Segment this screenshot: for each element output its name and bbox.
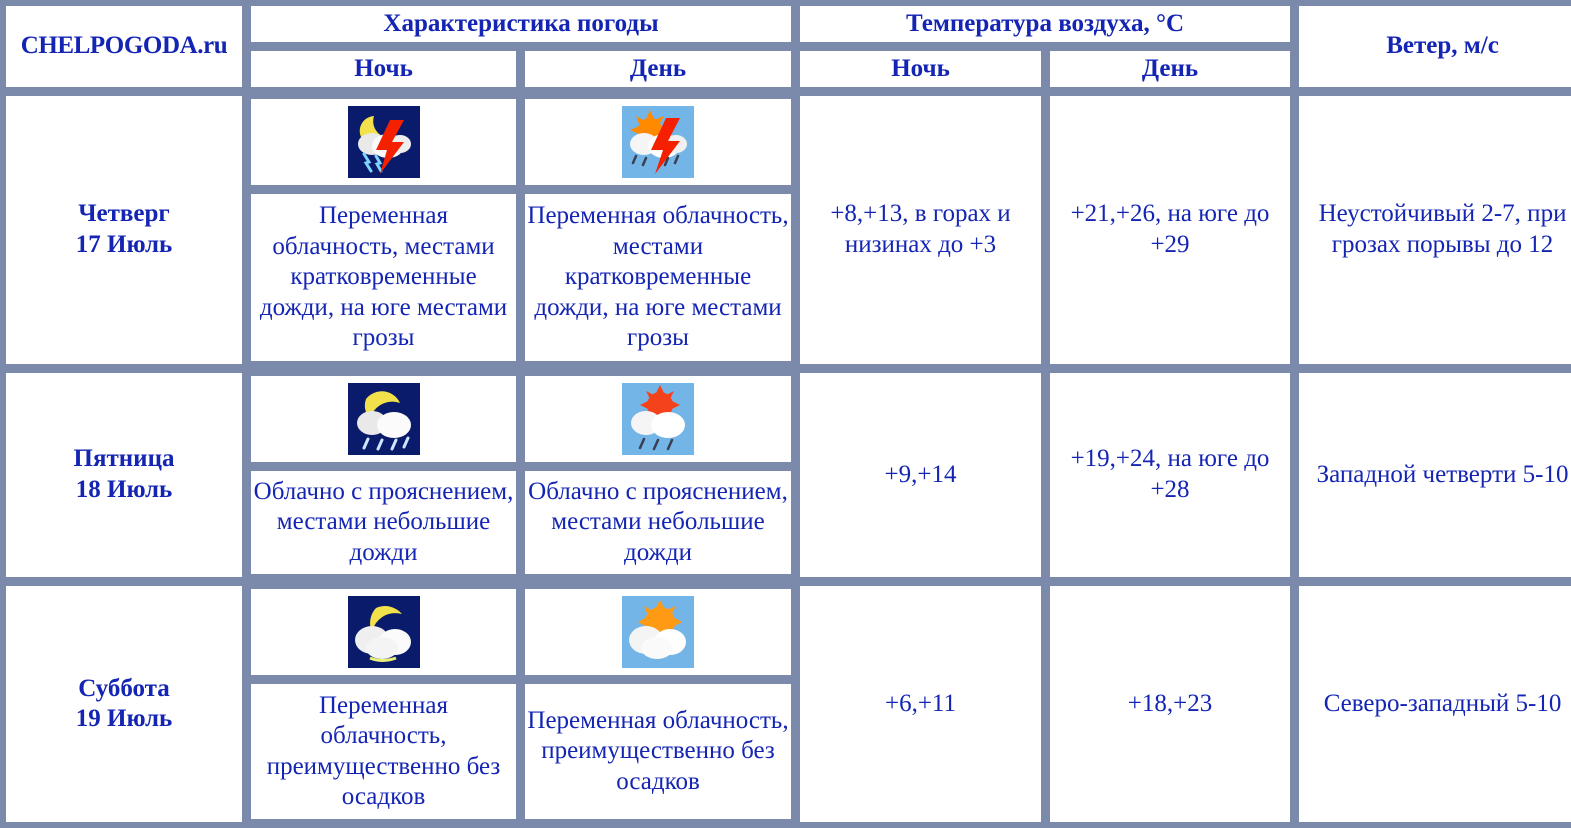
night-partly-cloudy-icon (251, 589, 516, 675)
night-characteristic-cell: Переменная облачность, преимущественно б… (248, 583, 519, 825)
day-label-cell: Суббота 19 Июль (3, 583, 245, 825)
day-date: 17 Июль (10, 230, 238, 261)
day-date: 19 Июль (10, 704, 238, 735)
day-icon-cell (522, 96, 794, 188)
night-icon-cell (248, 586, 519, 678)
night-temperature: +9,+14 (797, 370, 1044, 580)
table-row: Четверг 17 Июль (3, 93, 1571, 367)
wind-value: Неустойчивый 2-7, при грозах порывы до 1… (1296, 93, 1571, 367)
day-stack: Переменная облачность, преимущественно б… (522, 583, 794, 825)
day-description: Переменная облачность, местами кратковре… (522, 191, 794, 364)
night-stack: Переменная облачность, преимущественно б… (248, 583, 519, 825)
weather-forecast-table: CHELPOGODA.ru Характеристика погоды Темп… (0, 0, 1571, 828)
day-thunderstorm-icon (525, 99, 791, 185)
day-weekday: Четверг (10, 199, 238, 230)
header-characteristic-day: День (522, 48, 794, 90)
day-characteristic-cell: Облачно с прояснением, местами небольшие… (522, 370, 794, 580)
night-icon-cell (248, 373, 519, 465)
night-rain-icon (251, 376, 516, 462)
header-temperature-night: Ночь (797, 48, 1044, 90)
wind-value: Западной четверти 5-10 (1296, 370, 1571, 580)
night-description: Облачно с прояснением, местами небольшие… (248, 468, 519, 577)
header-air-temperature: Температура воздуха, °C (797, 3, 1293, 45)
night-characteristic-cell: Переменная облачность, местами кратковре… (248, 93, 519, 367)
day-icon-cell (522, 373, 794, 465)
day-description: Переменная облачность, преимущественно б… (522, 681, 794, 822)
night-description: Переменная облачность, местами кратковре… (248, 191, 519, 364)
night-icon-cell (248, 96, 519, 188)
table-row: Суббота 19 Июль (3, 583, 1571, 825)
day-partly-cloudy-icon (525, 589, 791, 675)
day-temperature: +19,+24, на юге до +28 (1047, 370, 1293, 580)
header-characteristic-night: Ночь (248, 48, 519, 90)
day-characteristic-cell: Переменная облачность, преимущественно б… (522, 583, 794, 825)
day-icon-cell (522, 586, 794, 678)
night-temperature: +8,+13, в горах и низинах до +3 (797, 93, 1044, 367)
day-stack: Облачно с прояснением, местами небольшие… (522, 370, 794, 580)
header-wind: Ветер, м/с (1296, 3, 1571, 90)
table-header-row-primary: CHELPOGODA.ru Характеристика погоды Темп… (3, 3, 1571, 45)
day-description: Облачно с прояснением, местами небольшие… (522, 468, 794, 577)
table-row: Пятница 18 Июль (3, 370, 1571, 580)
day-label-cell: Пятница 18 Июль (3, 370, 245, 580)
day-temperature: +21,+26, на юге до +29 (1047, 93, 1293, 367)
day-stack: Переменная облачность, местами кратковре… (522, 93, 794, 367)
day-characteristic-cell: Переменная облачность, местами кратковре… (522, 93, 794, 367)
day-rain-icon (525, 376, 791, 462)
night-description: Переменная облачность, преимущественно б… (248, 681, 519, 822)
day-label-cell: Четверг 17 Июль (3, 93, 245, 367)
night-thunderstorm-icon (251, 99, 516, 185)
day-date: 18 Июль (10, 475, 238, 506)
site-logo[interactable]: CHELPOGODA.ru (3, 3, 245, 90)
day-weekday: Пятница (10, 444, 238, 475)
day-temperature: +18,+23 (1047, 583, 1293, 825)
night-temperature: +6,+11 (797, 583, 1044, 825)
night-stack: Облачно с прояснением, местами небольшие… (248, 370, 519, 580)
header-weather-characteristic: Характеристика погоды (248, 3, 794, 45)
night-characteristic-cell: Облачно с прояснением, местами небольшие… (248, 370, 519, 580)
wind-value: Северо-западный 5-10 (1296, 583, 1571, 825)
night-stack: Переменная облачность, местами кратковре… (248, 93, 519, 367)
day-weekday: Суббота (10, 674, 238, 705)
header-temperature-day: День (1047, 48, 1293, 90)
